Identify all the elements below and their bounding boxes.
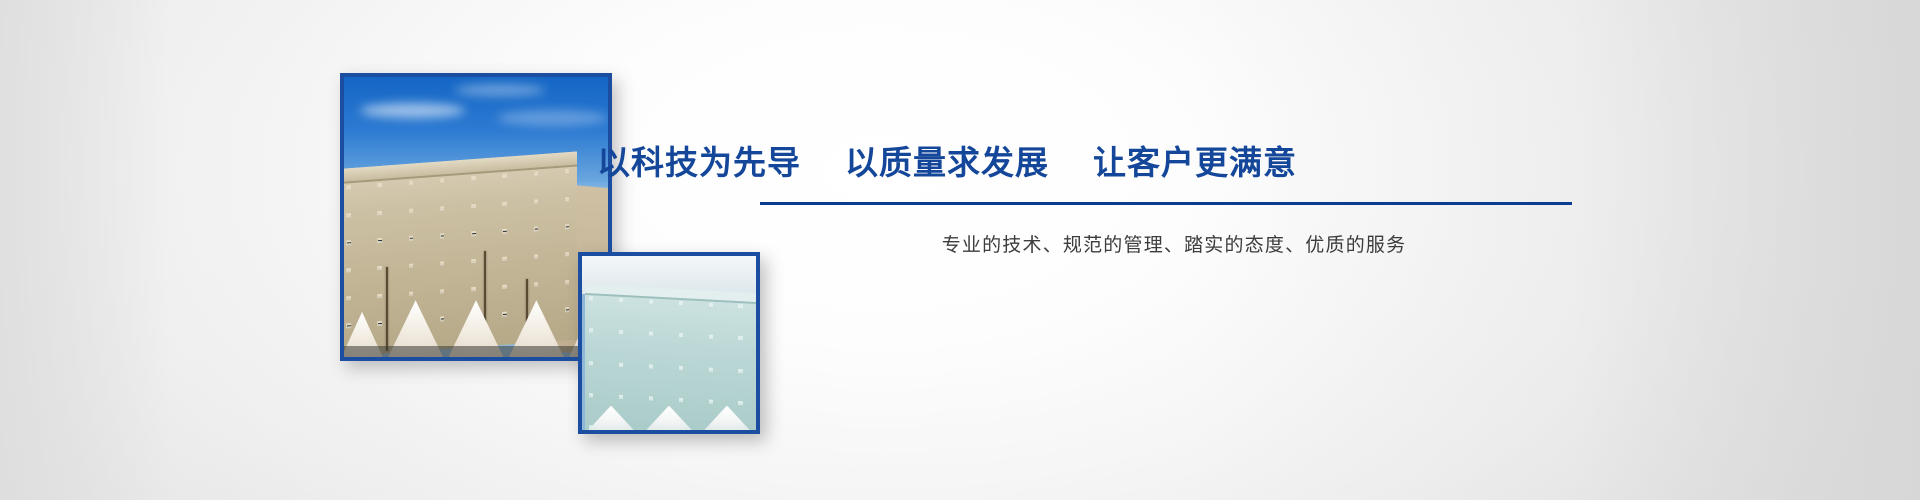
window-pane [346,268,350,271]
headline-segment-3: 让客户更满意 [1093,141,1297,185]
window-pane [440,206,444,209]
window-pane [739,336,743,338]
banner-subtitle: 专业的技术、规范的管理、踏实的态度、优质的服务 [784,231,1564,261]
window-pane [565,280,569,283]
window-pane [649,331,653,333]
window-pane [408,181,412,184]
window-pane [589,296,593,298]
promo-banner: 以科技为先导以质量求发展让客户更满意 专业的技术、规范的管理、踏实的态度、优质的… [0,0,1920,500]
photo-frame-primary [340,73,612,361]
window-pane [502,229,506,232]
window-pane [440,234,444,237]
window-pane [471,232,475,235]
window-pane [440,262,444,265]
window-pane [377,266,381,269]
ground-strip [344,346,608,357]
window-pane [619,395,623,397]
window-pane [649,396,653,398]
window-pane [709,334,713,336]
window-pane [565,225,569,228]
window-pane [619,297,623,299]
window-pane [709,302,713,304]
photo-secondary-image [582,256,756,430]
window-pane [649,299,653,301]
window-pane [440,179,444,182]
cloud-shape [497,110,608,126]
window-pane [619,330,623,332]
window-pane [471,176,475,179]
photo-primary-image [344,77,608,357]
window-pane [679,300,683,302]
window-pane [502,174,506,177]
photo-frame-secondary [578,252,760,434]
tent-canopy [704,406,749,430]
headline-divider-rule [760,202,1572,205]
window-pane [679,365,683,367]
headline-segment-2: 以质量求发展 [845,141,1049,185]
window-pane [502,257,506,260]
window-pane [408,208,412,211]
window-pane [533,227,537,230]
tent-canopy [588,406,633,430]
window-pane [346,241,350,244]
window-pane [533,255,537,258]
window-pane [377,183,381,186]
banner-headline: 以科技为先导以质量求发展让客户更满意 [597,141,1417,185]
cloud-shape [455,84,545,96]
window-pane [619,362,623,364]
window-pane [533,172,537,175]
window-pane [709,367,713,369]
window-pane [502,202,506,205]
window-pane [589,328,593,330]
window-pane [649,364,653,366]
window-pane [377,238,381,241]
window-pane [408,236,412,239]
window-pane [679,333,683,335]
window-pane [377,211,381,214]
window-pane [565,169,569,172]
window-pane [565,252,569,255]
cloud-shape [360,103,466,118]
window-pane [471,259,475,262]
window-pane [408,264,412,267]
window-pane [346,185,350,188]
window-pane [471,204,475,207]
window-pane [589,393,593,395]
window-pane [346,213,350,216]
window-pane [589,361,593,363]
window-pane [739,368,743,370]
window-pane [709,399,713,401]
tent-canopy [646,406,691,430]
headline-segment-1: 以科技为先导 [597,141,801,185]
banner-text-block: 以科技为先导以质量求发展让客户更满意 专业的技术、规范的管理、踏实的态度、优质的… [760,0,1580,500]
window-pane [739,304,743,306]
tent-canopy-row [582,402,756,430]
window-pane [679,398,683,400]
window-pane [565,197,569,200]
window-pane [533,199,537,202]
